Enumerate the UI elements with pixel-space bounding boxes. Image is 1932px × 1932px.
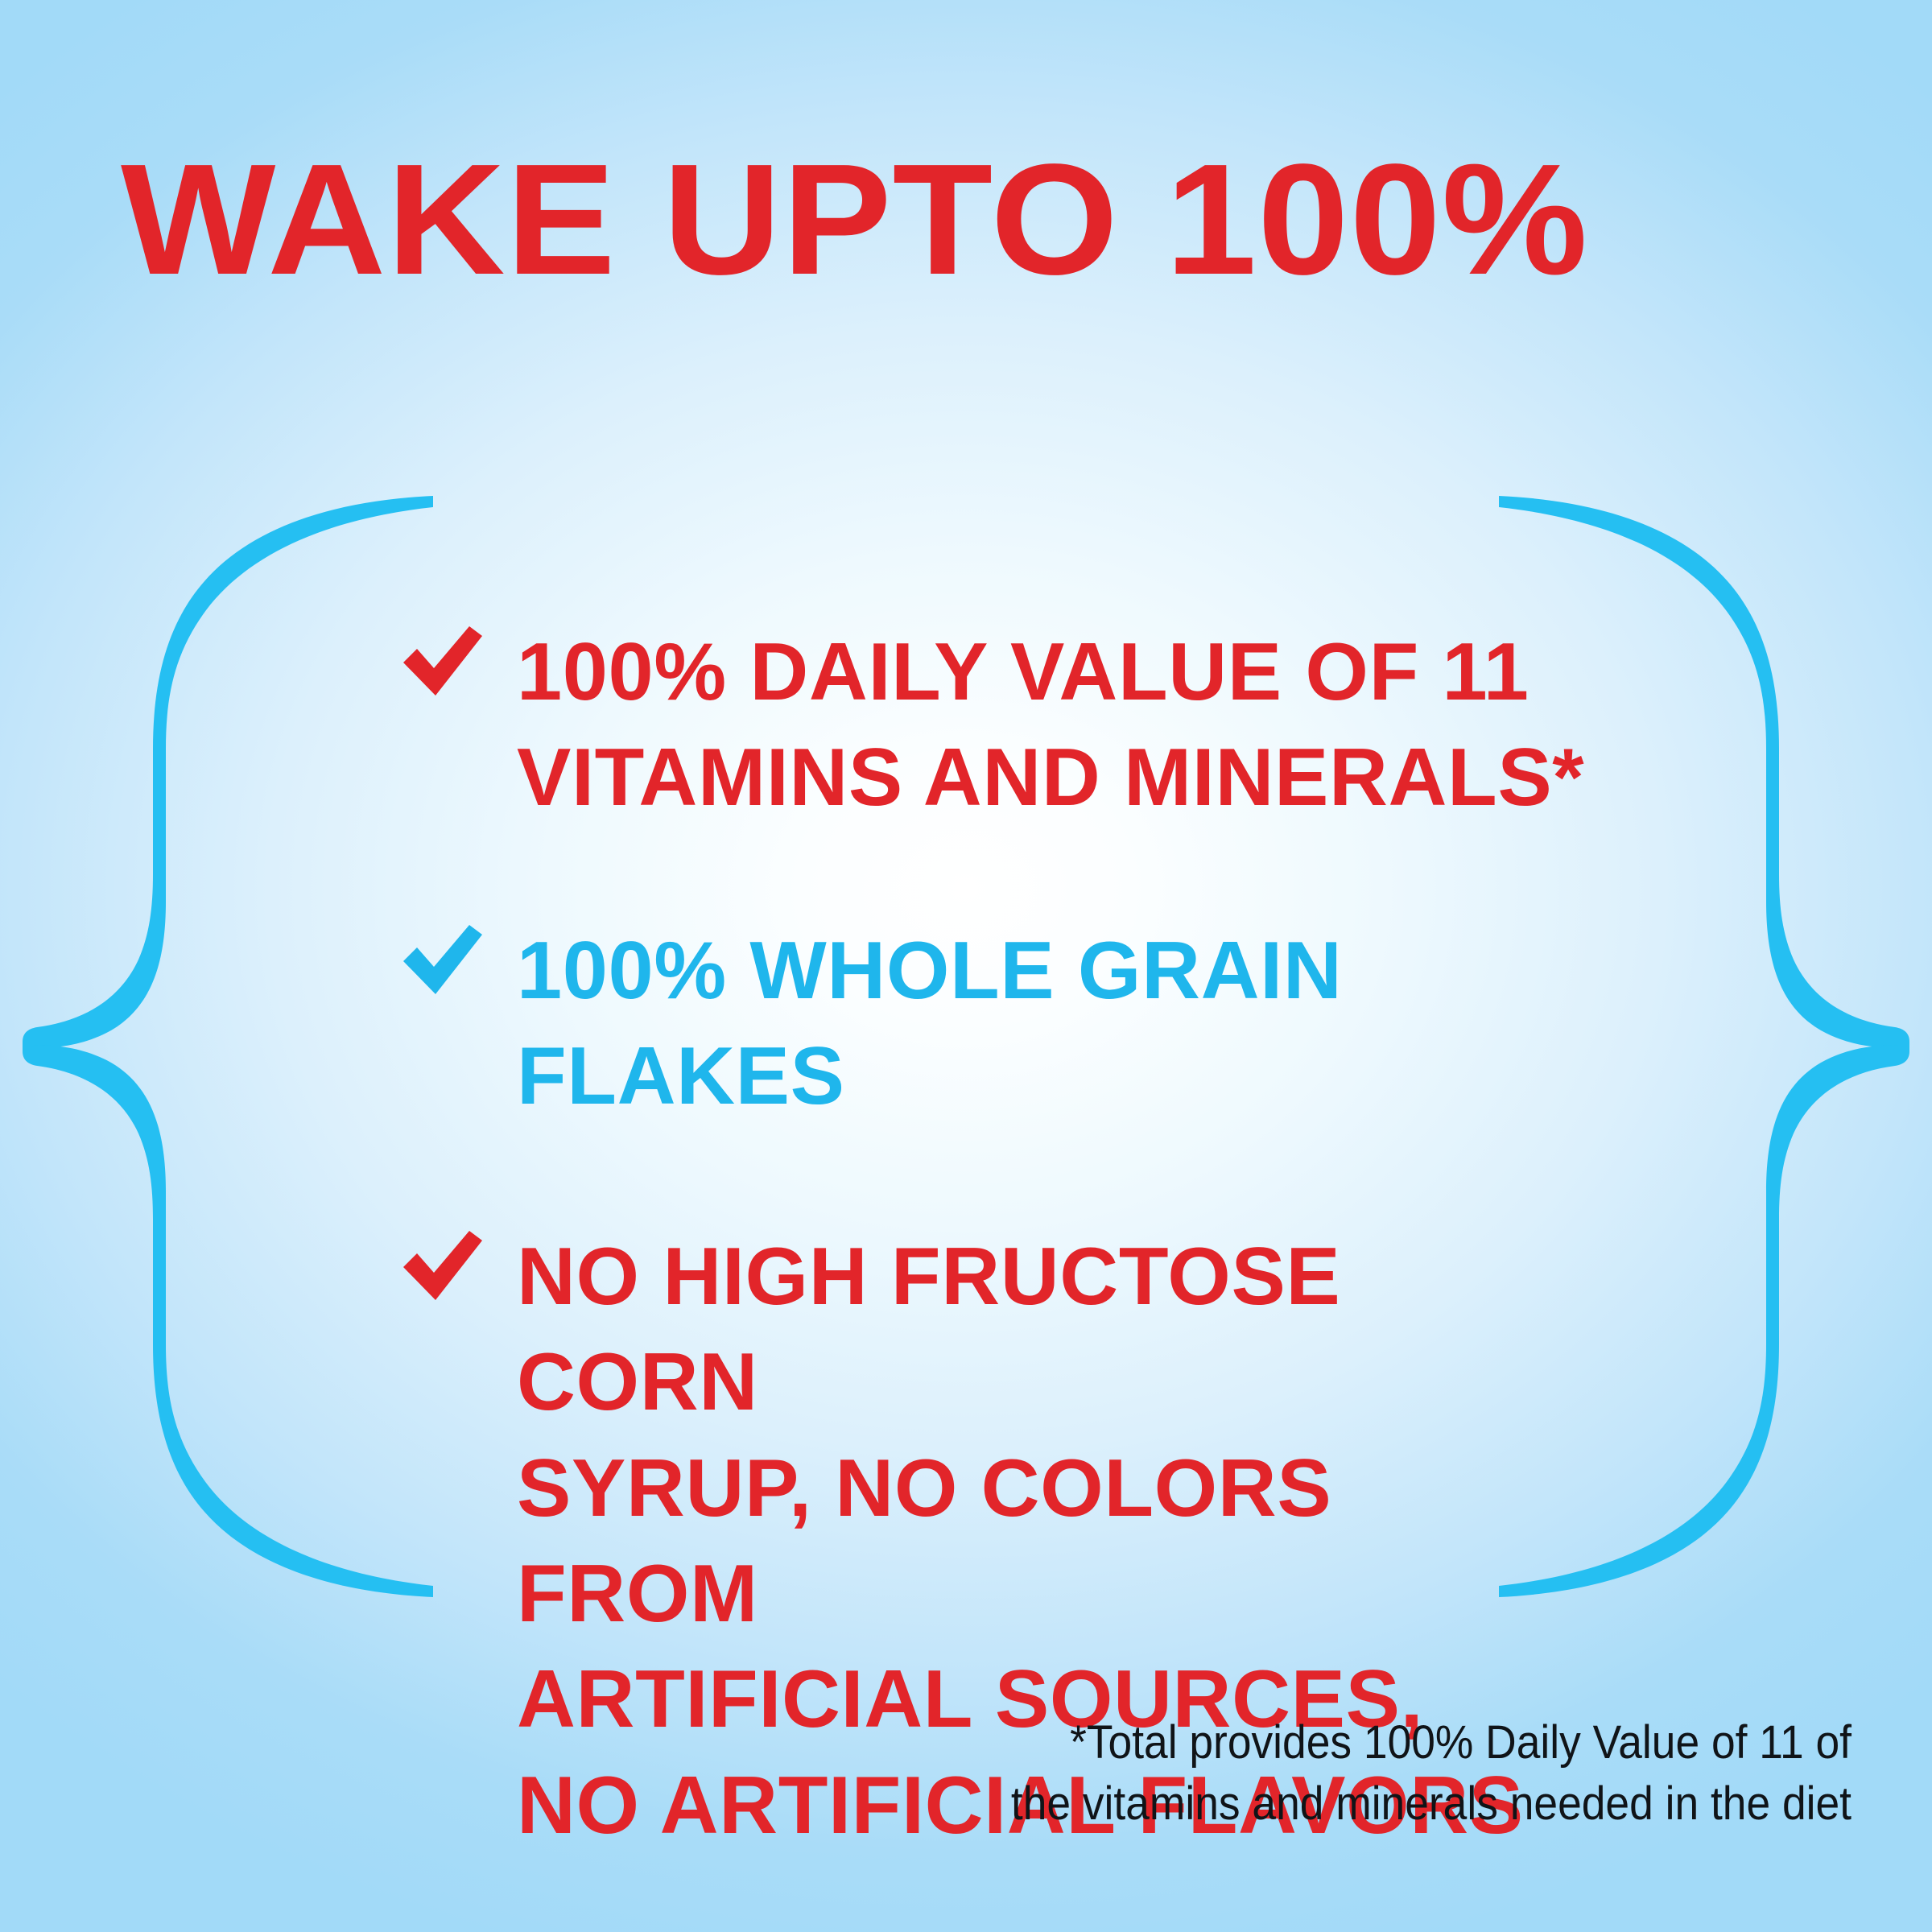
list-item-label: 100% WHOLE GRAIN FLAKES xyxy=(517,919,1586,1130)
promo-poster: WAKE UPTO 100% 100% DAILY VALUE OF 11 VI… xyxy=(0,0,1932,1932)
check-icon xyxy=(401,923,485,997)
list-item-label: 100% DAILY VALUE OF 11 VITAMINS AND MINE… xyxy=(517,620,1586,832)
footnote-disclaimer: *Total provides 100% Daily Value of 11 o… xyxy=(889,1712,1851,1834)
list-item: 100% DAILY VALUE OF 11 VITAMINS AND MINE… xyxy=(394,620,1586,832)
page-title: WAKE UPTO 100% xyxy=(121,141,1932,299)
benefits-list: 100% DAILY VALUE OF 11 VITAMINS AND MINE… xyxy=(394,620,1586,1859)
curly-brace-left-icon xyxy=(8,483,459,1610)
list-item: 100% WHOLE GRAIN FLAKES xyxy=(394,919,1586,1130)
check-icon xyxy=(401,625,485,699)
check-icon xyxy=(401,1229,485,1303)
